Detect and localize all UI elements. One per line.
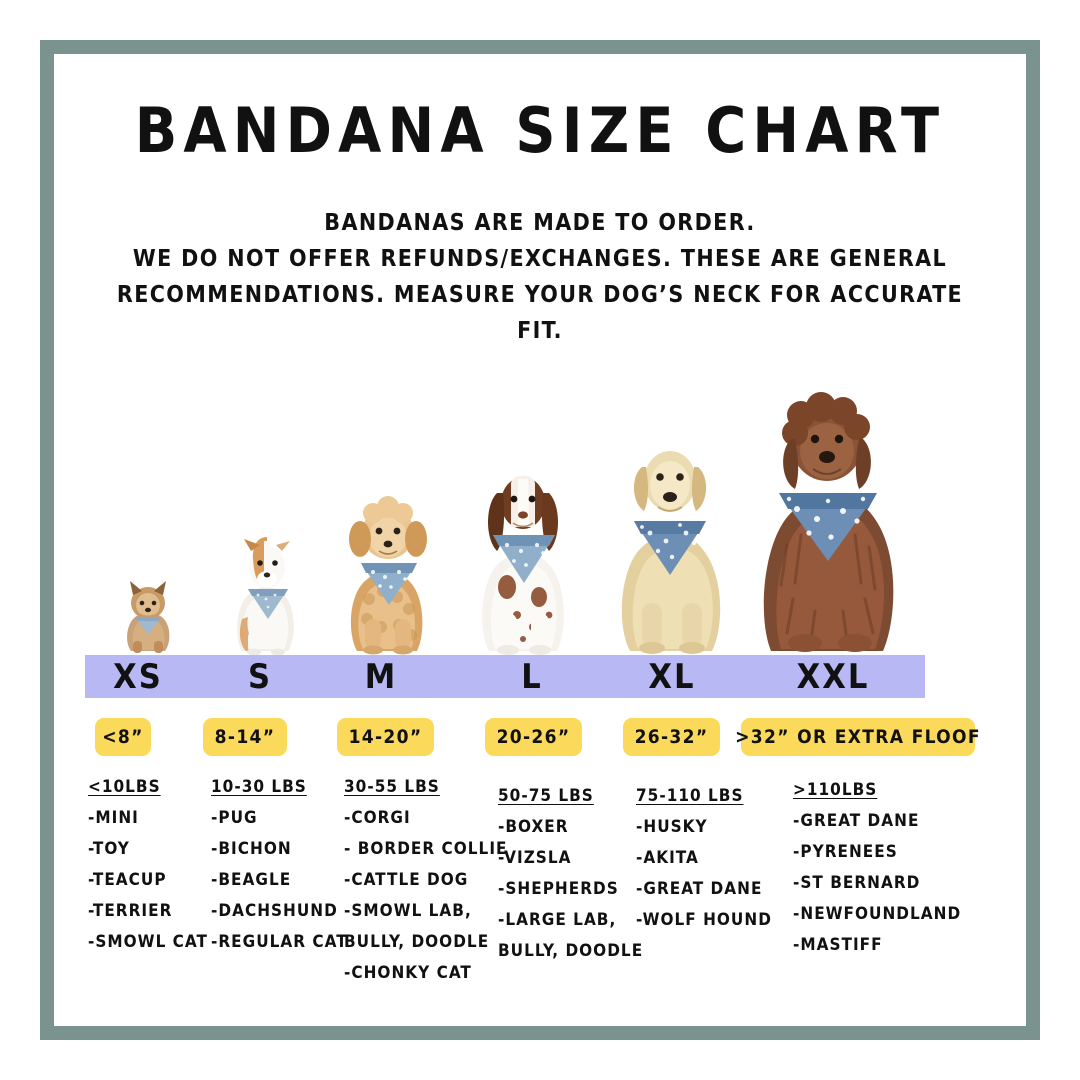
badge-neck-size-xxl: >32” OR EXTRA FLOOF [741,718,975,756]
breed-item: -DACHSHUND [211,901,339,921]
subtitle-line-1: BANDANAS ARE MADE TO ORDER. [108,205,972,241]
breed-column-m: 30-55 LBS -CORGI - BORDER COLLIE -CATTLE… [344,777,489,994]
size-label-l: L [521,660,543,694]
breed-column-xxl: >110LBS -GREAT DANE -PYRENEES -ST BERNAR… [793,780,973,966]
badge-neck-size-xs: <8” [95,718,151,756]
badge-neck-size-m: 14-20” [337,718,434,756]
size-label-xl: XL [648,660,695,694]
breed-column-xs: <10LBS -MINI -TOY -TEACUP -TERRIER -SMOW… [88,777,208,963]
dog-illustration-xxl-newfoundland [743,385,908,655]
breed-item: -TOY [88,839,208,859]
breed-item: -TEACUP [88,870,208,890]
breed-column-xl: 75-110 LBS -HUSKY -AKITA -GREAT DANE -WO… [636,786,771,941]
weight-range-l: 50-75 LBS [498,786,633,806]
breed-item: -LARGE LAB, [498,910,633,930]
breed-item: -VIZSLA [498,848,633,868]
weight-range-xl: 75-110 LBS [636,786,771,806]
page-title: BANDANA SIZE CHART [0,100,1080,162]
size-label-m: M [365,660,398,694]
badge-neck-size-xl: 26-32” [623,718,720,756]
breed-item: -HUSKY [636,817,771,837]
breed-item: -PYRENEES [793,842,973,862]
subtitle-line-3: RECOMMENDATIONS. MEASURE YOUR DOG’S NECK… [108,277,972,313]
policy-subtitle: BANDANAS ARE MADE TO ORDER. WE DO NOT OF… [108,205,972,349]
size-label-band: XS S M L XL XXL [85,655,925,698]
breed-item: -MINI [88,808,208,828]
breed-item: -SMOWL LAB, [344,901,489,921]
breed-item: BULLY, DOODLE [344,932,489,952]
dog-illustration-xl-yellow-labrador [600,427,735,655]
breed-item: -WOLF HOUND [636,910,771,930]
breed-column-s: 10-30 LBS -PUG -BICHON -BEAGLE -DACHSHUN… [211,777,339,963]
breed-item: -PUG [211,808,339,828]
badge-neck-size-l: 20-26” [485,718,582,756]
weight-range-xs: <10LBS [88,777,208,797]
breed-item: -REGULAR CAT [211,932,339,952]
breed-item: -ST BERNARD [793,873,973,893]
breed-item: -NEWFOUNDLAND [793,904,973,924]
dog-illustration-l-springer-spaniel [463,455,583,655]
weight-range-m: 30-55 LBS [344,777,489,797]
badge-neck-size-s: 8-14” [203,718,287,756]
subtitle-line-4: FIT. [108,313,972,349]
size-label-xs: XS [113,660,163,694]
breed-item: -GREAT DANE [793,811,973,831]
subtitle-line-2: WE DO NOT OFFER REFUNDS/EXCHANGES. THESE… [108,241,972,277]
bandana-size-chart-page: BANDANA SIZE CHART BANDANAS ARE MADE TO … [0,0,1080,1080]
size-label-xxl: XXL [797,660,870,694]
dog-illustration-m-cockapoo-doodle [333,487,443,655]
size-label-s: S [248,660,272,694]
breed-item: -SHEPHERDS [498,879,633,899]
breed-item: -MASTIFF [793,935,973,955]
breed-item: - BORDER COLLIE [344,839,489,859]
breed-item: -BICHON [211,839,339,859]
weight-range-xxl: >110LBS [793,780,973,800]
breed-item: -SMOWL CAT [88,932,208,952]
breed-item: BULLY, DOODLE [498,941,633,961]
breed-item: -BOXER [498,817,633,837]
breed-column-l: 50-75 LBS -BOXER -VIZSLA -SHEPHERDS -LAR… [498,786,633,972]
breed-item: -TERRIER [88,901,208,921]
breed-item: -AKITA [636,848,771,868]
dog-illustration-row [85,375,945,655]
breed-item: -GREAT DANE [636,879,771,899]
breed-item: -CORGI [344,808,489,828]
dog-illustration-s-jack-russell-terrier [220,515,312,655]
weight-range-s: 10-30 LBS [211,777,339,797]
dog-illustration-xs-yorkshire-terrier [113,555,183,655]
breed-item: -CHONKY CAT [344,963,489,983]
breed-item: -CATTLE DOG [344,870,489,890]
breed-item: -BEAGLE [211,870,339,890]
